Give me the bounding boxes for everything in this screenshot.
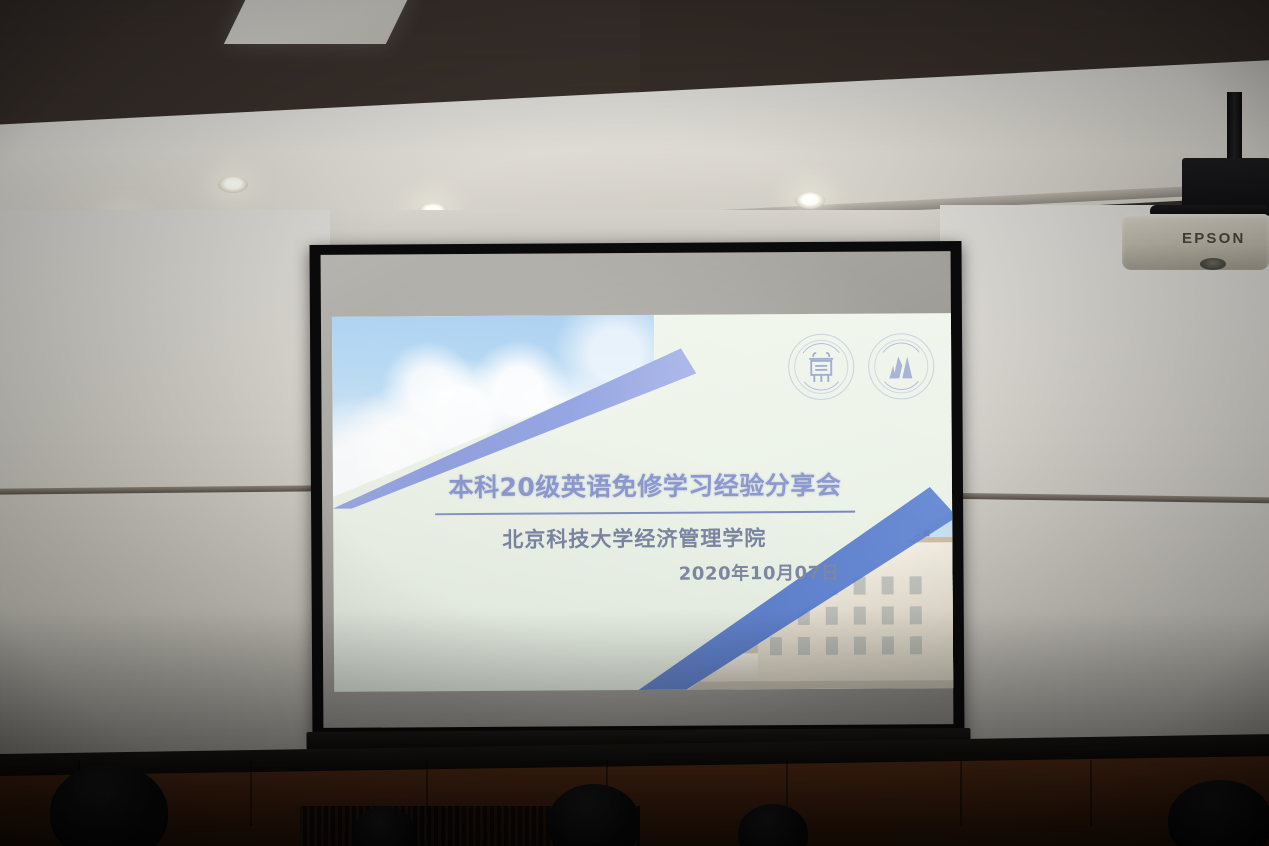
campus-window <box>882 606 894 624</box>
projector-lens <box>1200 258 1226 270</box>
presentation-slide: 本科20级英语免修学习经验分享会 北京科技大学经济管理学院 2020年10月07… <box>332 313 953 692</box>
wood-panel-seam <box>1090 760 1092 826</box>
slide-subtitle: 北京科技大学经济管理学院 <box>333 521 953 555</box>
projection-screen-surface: 本科20级英语免修学习经验分享会 北京科技大学经济管理学院 2020年10月07… <box>321 251 954 728</box>
downlight-4 <box>795 192 825 209</box>
slide-title-block: 本科20级英语免修学习经验分享会 北京科技大学经济管理学院 2020年10月07… <box>333 465 954 588</box>
wood-panel-seam <box>960 760 962 826</box>
campus-window <box>770 637 782 655</box>
room-interior: EPSON <box>0 0 1269 846</box>
campus-window <box>910 606 922 624</box>
skylight-panel-left <box>224 0 414 44</box>
campus-window <box>798 637 810 655</box>
downlight-3 <box>218 176 248 193</box>
campus-window <box>854 607 866 625</box>
campus-window <box>854 637 866 655</box>
projector-brand-label: EPSON <box>1182 230 1246 247</box>
campus-window <box>826 607 838 625</box>
wood-panel-seam <box>250 760 252 826</box>
campus-window <box>910 636 922 654</box>
slide-title-rule <box>435 511 855 516</box>
campus-tree-1 <box>634 634 664 668</box>
campus-window <box>826 637 838 655</box>
slide-date: 2020年10月07日 <box>333 558 953 588</box>
campus-window <box>882 636 894 654</box>
photograph-lecture-hall: EPSON <box>0 0 1269 846</box>
projection-screen-frame: 本科20级英语免修学习经验分享会 北京科技大学经济管理学院 2020年10月07… <box>309 241 964 742</box>
projector-body: EPSON <box>1122 214 1269 270</box>
ustb-ding-emblem-icon <box>788 334 854 400</box>
sem-mountain-emblem-icon <box>868 333 934 399</box>
slide-logo-group <box>788 333 934 400</box>
wall-left <box>0 210 330 780</box>
slide-title: 本科20级英语免修学习经验分享会 <box>333 465 954 505</box>
